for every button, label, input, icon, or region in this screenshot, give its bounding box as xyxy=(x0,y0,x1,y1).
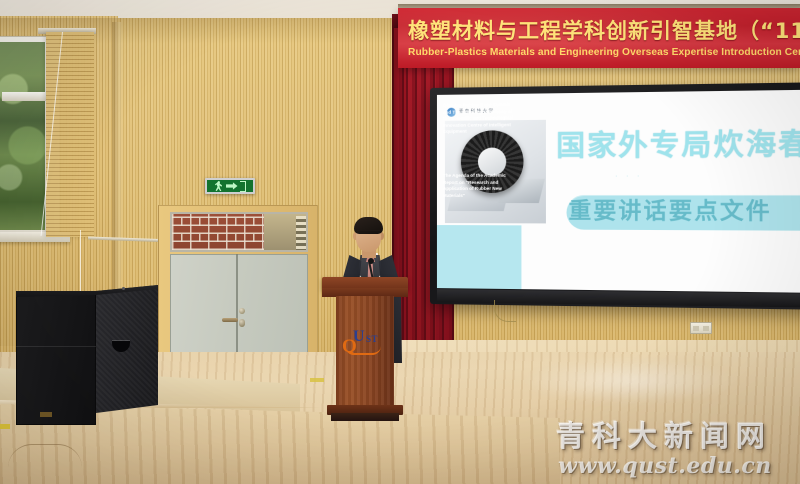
exit-arrow-icon xyxy=(226,182,238,190)
projection-screen: 青岛科技大学 Qingdao Rubber Expo Summit and Th… xyxy=(430,82,800,310)
door-handle[interactable] xyxy=(222,318,238,322)
floor-cable xyxy=(8,444,82,468)
floor-reflection xyxy=(520,358,740,404)
podium-logo-st: ST xyxy=(366,335,378,344)
banner-english-text: Rubber-Plastics Materials and Engineerin… xyxy=(408,46,800,58)
podium-logo-swoosh-icon xyxy=(345,346,381,355)
loudspeaker-cabinet xyxy=(16,291,96,425)
podium-logo-u: U xyxy=(353,329,365,345)
stage-corner-tape xyxy=(0,424,10,429)
emergency-exit-sign xyxy=(205,178,255,194)
window-blind[interactable] xyxy=(46,32,94,237)
slide-title: 国家外专局炊海春 xyxy=(556,128,800,163)
banner-chinese-text: 橡塑材料与工程学科创新引智基地（“111计划”） xyxy=(408,20,800,42)
podium-logo: Q U ST xyxy=(342,328,388,354)
wall-outlet-panel[interactable] xyxy=(690,322,712,334)
podium-base-shadow xyxy=(331,413,399,421)
floor-marker-tape xyxy=(310,378,324,382)
loudspeaker-knob xyxy=(122,287,125,290)
screen-display-area: 青岛科技大学 Qingdao Rubber Expo Summit and Th… xyxy=(437,90,800,293)
brick-wall-beyond xyxy=(172,214,264,250)
loudspeaker-badge xyxy=(40,412,52,417)
door-keyhole-icon[interactable] xyxy=(239,319,245,327)
slide-sidebar-paragraph-1: Qingdao Rubber Expo Summit and The Unvei… xyxy=(443,102,517,136)
transom-right-panel xyxy=(264,214,308,250)
running-man-icon xyxy=(215,181,224,191)
transom-grill xyxy=(296,216,308,252)
door-transom-window xyxy=(170,212,308,252)
slide-band-text: 重要讲话要点文件 xyxy=(569,199,772,226)
window-mullion xyxy=(2,92,52,101)
slide-sidebar-paragraph-2: The Agenda of the Academic Report on "Re… xyxy=(443,173,517,200)
loudspeaker-grill-seam xyxy=(16,346,96,347)
event-banner: 橡塑材料与工程学科创新引智基地（“111计划”） Rubber-Plastics… xyxy=(398,8,800,68)
window-glass xyxy=(0,42,45,230)
exit-door-icon xyxy=(240,181,246,192)
microphone-icon xyxy=(368,258,374,264)
slide-subtitle: · · · xyxy=(615,172,642,180)
outlet-socket-icon xyxy=(693,326,699,331)
photo-scene: 橡塑材料与工程学科创新引智基地（“111计划”） Rubber-Plastics… xyxy=(0,0,800,484)
person-eyeline xyxy=(357,230,380,235)
door-lock-icon[interactable] xyxy=(239,308,245,314)
outlet-switch-icon xyxy=(703,326,709,331)
slide-sidebar xyxy=(437,225,521,289)
